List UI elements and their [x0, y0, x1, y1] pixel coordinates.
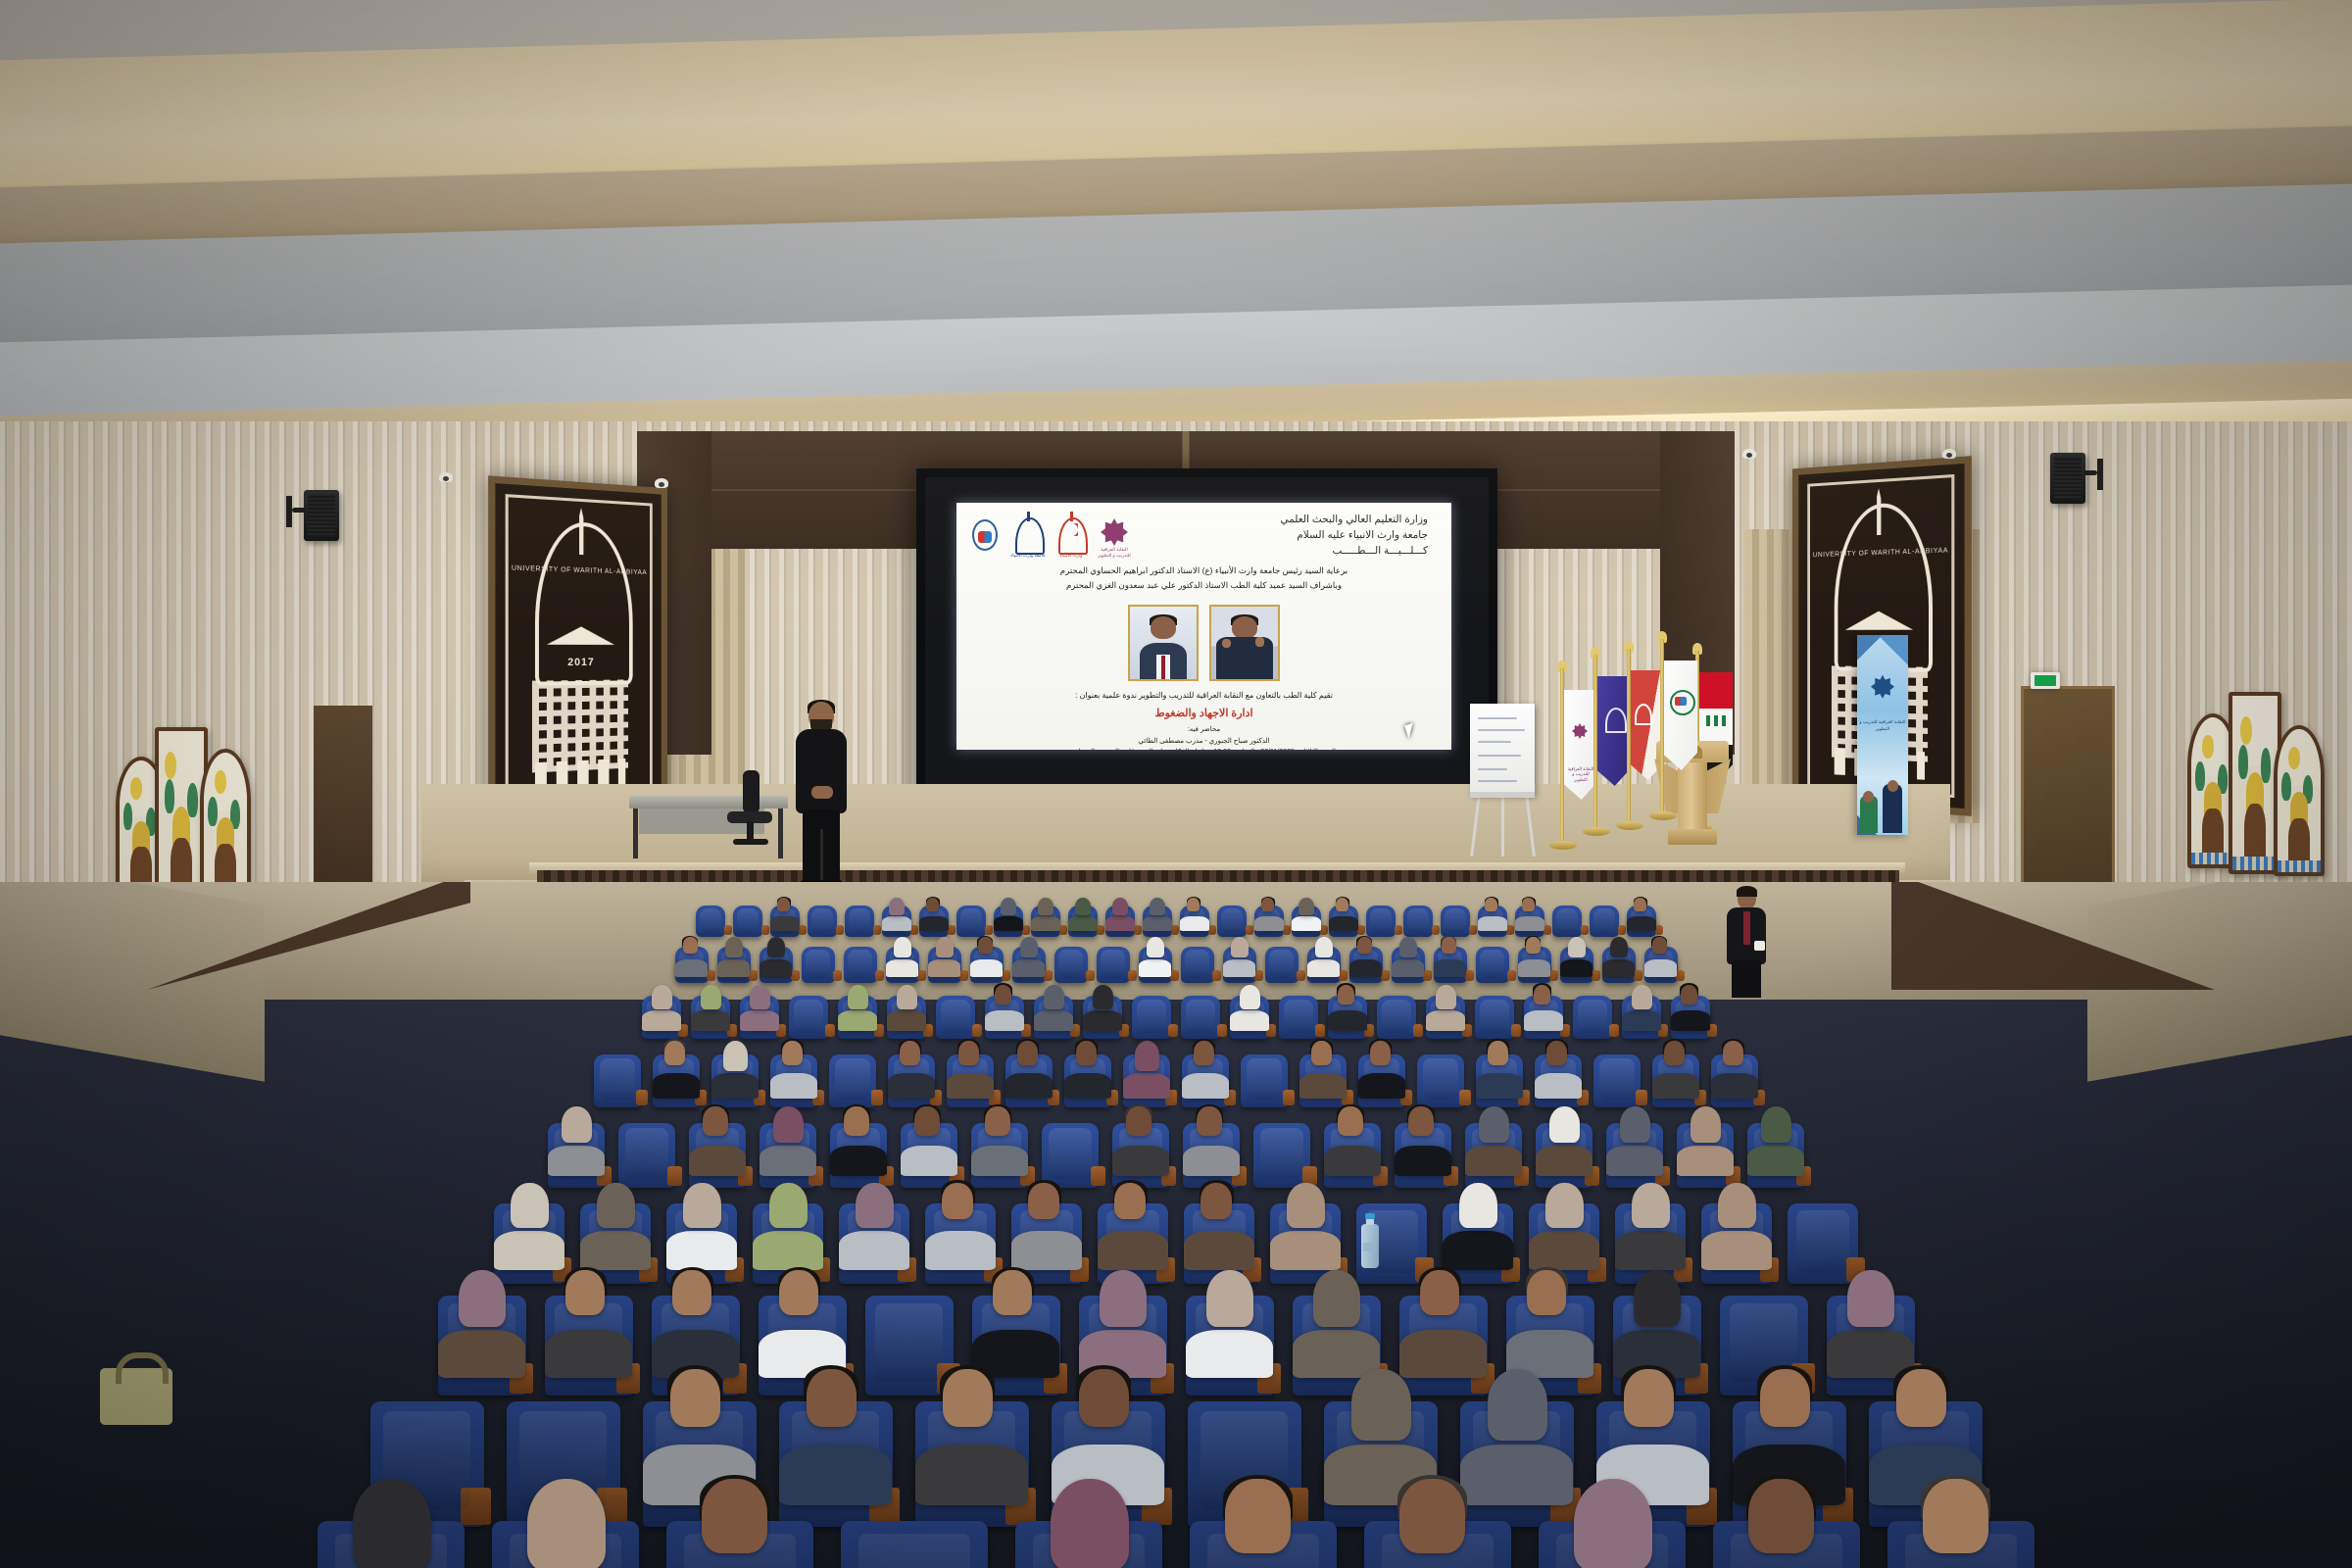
- auditorium-seat[interactable]: [1560, 947, 1593, 983]
- auditorium-seat[interactable]: [1539, 1521, 1686, 1568]
- hijab: [1847, 1270, 1894, 1327]
- auditorium-seat[interactable]: [919, 906, 949, 937]
- auditorium-seat[interactable]: [1083, 996, 1122, 1039]
- hijab: [769, 1183, 807, 1229]
- shoulders: [1329, 916, 1358, 931]
- auditorium-seat[interactable]: [1183, 1123, 1240, 1188]
- head: [958, 1041, 979, 1065]
- head: [1652, 937, 1667, 954]
- hijab: [1112, 898, 1128, 915]
- audience-member: [1479, 898, 1506, 926]
- audience-member: [655, 1041, 698, 1090]
- shoulders: [666, 1231, 737, 1269]
- auditorium-seat[interactable]: [886, 947, 919, 983]
- auditorium-seat[interactable]: [1054, 947, 1088, 983]
- seat-armrest: [1059, 925, 1067, 935]
- audience-member: [1600, 1369, 1705, 1485]
- auditorium-seat[interactable]: [841, 1521, 988, 1568]
- auditorium-seat[interactable]: [318, 1521, 465, 1568]
- audience-member: [887, 937, 917, 970]
- auditorium-seat[interactable]: [1112, 1123, 1169, 1188]
- seat-armrest: [948, 925, 955, 935]
- head: [995, 985, 1012, 1004]
- hijab: [701, 985, 721, 1009]
- auditorium-seat[interactable]: [1524, 996, 1563, 1039]
- shoulders: [1098, 1231, 1168, 1269]
- audience-member: [1519, 937, 1549, 970]
- auditorium-seat[interactable]: [839, 1203, 909, 1284]
- flag-purple-university: [1597, 676, 1631, 786]
- audience-member: [1749, 1106, 1801, 1166]
- shoulders: [717, 959, 751, 977]
- audience-member: [1184, 1041, 1227, 1090]
- shoulders: [994, 916, 1023, 931]
- auditorium-seat[interactable]: [1515, 906, 1544, 937]
- seat-armrest: [1320, 925, 1328, 935]
- head: [1485, 898, 1497, 912]
- auditorium-seat[interactable]: [691, 996, 730, 1039]
- wall-speaker-left: [304, 490, 339, 541]
- ceiling-camera-right: [1742, 449, 1756, 459]
- audience-member: [1014, 1183, 1079, 1256]
- shoulders: [1182, 1073, 1229, 1099]
- auditorium-seat[interactable]: [1590, 906, 1619, 937]
- auditorium-seat[interactable]: [1366, 906, 1396, 937]
- shoulders: [1602, 959, 1636, 977]
- audience-member: [1330, 985, 1366, 1024]
- slide-body: تقيم كلية الطب بالتعاون مع النقابة العرا…: [966, 689, 1442, 750]
- auditorium-seat[interactable]: [618, 1123, 675, 1188]
- auditorium-seat[interactable]: [1265, 947, 1298, 983]
- audience-member: [693, 985, 729, 1024]
- auditorium-seat[interactable]: [1254, 906, 1284, 937]
- head: [1681, 985, 1698, 1004]
- audience-member: [1624, 985, 1660, 1024]
- flag-syndicate-caption: النقابة العراقية للتدريب و التطوير: [1565, 766, 1596, 782]
- hijab: [1038, 898, 1053, 915]
- auditorium-seat[interactable]: [1476, 947, 1509, 983]
- auditorium-seat[interactable]: [956, 906, 986, 937]
- auditorium-seat[interactable]: [1097, 947, 1130, 983]
- auditorium-seat[interactable]: [1644, 947, 1678, 983]
- auditorium-seat[interactable]: [1478, 906, 1507, 937]
- auditorium-seat[interactable]: [888, 1054, 935, 1107]
- audience-member: [1032, 898, 1059, 926]
- shoulders: [753, 1231, 823, 1269]
- audience-member: [995, 898, 1022, 926]
- head: [943, 1369, 993, 1427]
- auditorium-seat[interactable]: [901, 1123, 957, 1188]
- head: [1923, 1479, 1987, 1553]
- shoulders: [438, 1330, 525, 1378]
- shoulders: [1143, 916, 1172, 931]
- lecturer-label: محاضر فيه:: [966, 724, 1442, 735]
- auditorium-seat[interactable]: [802, 947, 835, 983]
- audience-member: [1428, 985, 1464, 1024]
- head: [914, 1106, 940, 1136]
- auditorium-seat[interactable]: [915, 1401, 1029, 1527]
- hijab: [1549, 1106, 1580, 1144]
- shoulders: [830, 1146, 887, 1177]
- auditorium-seat[interactable]: [1395, 1123, 1451, 1188]
- shoulders: [1034, 1010, 1073, 1031]
- audience-member: [832, 1106, 884, 1166]
- auditorium-seat[interactable]: [1434, 947, 1467, 983]
- auditorium-seat[interactable]: [1417, 1054, 1464, 1107]
- shoulders: [971, 1146, 1028, 1177]
- hijab: [1459, 1183, 1496, 1229]
- auditorium-seat[interactable]: [1292, 906, 1321, 937]
- auditorium-seat[interactable]: [829, 1054, 876, 1107]
- auditorium-seat[interactable]: [1181, 996, 1220, 1039]
- auditorium-seat[interactable]: [1253, 1123, 1310, 1188]
- shoulders: [1434, 959, 1467, 977]
- auditorium-seat[interactable]: [789, 996, 828, 1039]
- audience-member: [1101, 1183, 1165, 1256]
- hijab: [562, 1106, 592, 1144]
- audience-member: [583, 1183, 648, 1256]
- auditorium-seat[interactable]: [740, 996, 779, 1039]
- auditorium-seat[interactable]: [1403, 906, 1433, 937]
- shoulders: [947, 1073, 994, 1099]
- auditorium-seat[interactable]: [1042, 1123, 1099, 1188]
- auditorium-seat[interactable]: [928, 947, 961, 983]
- auditorium-seat[interactable]: [1392, 947, 1425, 983]
- auditorium-seat[interactable]: [1602, 947, 1636, 983]
- auditorium-seat[interactable]: [1518, 947, 1551, 983]
- head: [1488, 1041, 1508, 1065]
- presentation-slide: جامعة وارث الأنبياء وارث الأنبياء النقاب…: [956, 503, 1451, 750]
- auditorium-seat[interactable]: [844, 947, 877, 983]
- head: [1522, 898, 1535, 912]
- shoulders: [1644, 959, 1678, 977]
- auditorium-seat[interactable]: [1593, 1054, 1641, 1107]
- seat-armrest: [1283, 1090, 1295, 1105]
- auditorium-seat[interactable]: [994, 906, 1023, 937]
- auditorium-seat[interactable]: [1143, 906, 1172, 937]
- head: [1624, 1369, 1674, 1427]
- auditorium-seat[interactable]: [1230, 996, 1269, 1039]
- audience-member: [1273, 1183, 1338, 1256]
- auditorium-seat[interactable]: [1476, 1054, 1523, 1107]
- auditorium-seat[interactable]: [1349, 947, 1383, 983]
- audience-member: [1308, 937, 1339, 970]
- auditorium-seat[interactable]: [1573, 996, 1612, 1039]
- shoulders: [1515, 916, 1544, 931]
- auditorium-seat[interactable]: [1005, 1054, 1053, 1107]
- auditorium-seat[interactable]: [1307, 947, 1341, 983]
- shoulders: [886, 959, 919, 977]
- hijab: [1574, 1479, 1652, 1568]
- auditorium-seat[interactable]: [1671, 996, 1710, 1039]
- audience-member: [1654, 1041, 1697, 1090]
- auditorium-seat[interactable]: [1475, 996, 1514, 1039]
- hijab: [652, 985, 672, 1009]
- shoulders: [1465, 1146, 1522, 1177]
- auditorium-seat[interactable]: [759, 947, 793, 983]
- auditorium-seat[interactable]: [492, 1521, 639, 1568]
- slide-header-line-2: جامعة وارث الانبياء عليه السلام: [1139, 527, 1428, 543]
- head: [1311, 1041, 1332, 1065]
- hijab: [459, 1270, 506, 1327]
- flag-ministry-white: [1664, 661, 1697, 770]
- auditorium-seat[interactable]: [1182, 1054, 1229, 1107]
- auditorium-seat[interactable]: [838, 996, 877, 1039]
- auditorium-seat[interactable]: [1426, 996, 1465, 1039]
- shoulders: [1677, 1146, 1734, 1177]
- audience-member: [1645, 937, 1676, 970]
- seat-row-5: [0, 1123, 2352, 1188]
- audience-member: [1370, 1479, 1505, 1568]
- auditorium-seat[interactable]: [666, 1521, 813, 1568]
- auditorium-seat[interactable]: [1190, 1521, 1337, 1568]
- audience-member: [1181, 898, 1208, 926]
- auditorium-seat[interactable]: [653, 1054, 700, 1107]
- presenter-speaker: [794, 702, 849, 888]
- auditorium-seat[interactable]: [936, 996, 975, 1039]
- auditorium-seat[interactable]: [594, 1054, 641, 1107]
- seat-armrest: [1315, 1024, 1325, 1037]
- auditorium-seat[interactable]: [1652, 1054, 1699, 1107]
- auditorium-seat[interactable]: [770, 1054, 817, 1107]
- seat-row-1: [0, 906, 2352, 937]
- head: [1527, 1270, 1566, 1316]
- auditorium-seat[interactable]: [438, 1296, 526, 1396]
- shoulders: [1123, 1073, 1170, 1099]
- seat-armrest: [1022, 925, 1030, 935]
- auditorium-seat[interactable]: [689, 1123, 746, 1188]
- shoulders: [1476, 1073, 1523, 1099]
- head: [1114, 1183, 1146, 1220]
- audience-member: [1106, 898, 1134, 926]
- shoulders: [1518, 959, 1551, 977]
- auditorium-seat[interactable]: [675, 947, 709, 983]
- auditorium-seat[interactable]: [845, 906, 874, 937]
- head: [926, 898, 939, 912]
- auditorium-seat[interactable]: [1552, 906, 1582, 937]
- auditorium-seat[interactable]: [1622, 996, 1661, 1039]
- shoulders: [1606, 1146, 1663, 1177]
- head: [703, 1106, 728, 1136]
- ceiling-camera-far-right: [1942, 449, 1956, 459]
- auditorium-seat[interactable]: [1747, 1123, 1804, 1188]
- shoulders: [1627, 916, 1656, 931]
- auditorium-seat[interactable]: [1324, 1123, 1381, 1188]
- shoulders: [1535, 1073, 1582, 1099]
- wall-speaker-right: [2050, 453, 2085, 504]
- shoulders: [919, 916, 949, 931]
- audience-member: [1467, 1106, 1519, 1166]
- auditorium-seat[interactable]: [1299, 1054, 1347, 1107]
- shoulders: [580, 1231, 651, 1269]
- auditorium-seat[interactable]: [1223, 947, 1256, 983]
- auditorium-seat[interactable]: [1377, 996, 1416, 1039]
- seminar-schedule: اليوم: الثلاثاء - 26/11/2025 - الساعة: 1…: [966, 747, 1442, 750]
- seat-armrest: [1168, 1024, 1178, 1037]
- auditorium-seat[interactable]: [1711, 1054, 1758, 1107]
- hijab: [1488, 1369, 1548, 1441]
- auditorium-seat[interactable]: [1034, 996, 1073, 1039]
- audience-member: [1013, 937, 1044, 970]
- auditorium-seat[interactable]: [759, 1123, 816, 1188]
- audience-member: [1036, 985, 1072, 1024]
- audience-member: [718, 937, 749, 970]
- auditorium-seat[interactable]: [1713, 1521, 1860, 1568]
- speaker-portrait-1: [1128, 605, 1199, 681]
- slide-photos: [956, 605, 1451, 683]
- hijab: [1479, 1106, 1509, 1144]
- auditorium-seat[interactable]: [1241, 1054, 1288, 1107]
- auditorium-seat[interactable]: [1358, 1054, 1405, 1107]
- shoulders: [1478, 916, 1507, 931]
- shoulders: [1701, 1231, 1772, 1269]
- hijab: [1761, 1106, 1791, 1144]
- decorative-arch-art-right: [2187, 692, 2334, 868]
- hijab: [1632, 1183, 1669, 1229]
- auditorium-seat[interactable]: [1279, 996, 1318, 1039]
- audience-member: [1526, 985, 1562, 1024]
- seat-armrest: [1581, 925, 1589, 935]
- exit-sign: [2031, 672, 2060, 689]
- side-door-left[interactable]: [314, 706, 372, 902]
- shoulders: [642, 1010, 681, 1031]
- hijab: [1634, 1270, 1681, 1327]
- auditorium-seat[interactable]: [971, 1123, 1028, 1188]
- auditorium-seat[interactable]: [1329, 906, 1358, 937]
- auditorium-seat[interactable]: [1181, 947, 1214, 983]
- head: [1748, 1479, 1813, 1553]
- seat-armrest: [871, 1090, 883, 1105]
- auditorium-seat[interactable]: [1186, 1296, 1274, 1396]
- auditorium-seat[interactable]: [1217, 906, 1247, 937]
- head: [1079, 1369, 1129, 1427]
- auditorium-seat[interactable]: [887, 996, 926, 1039]
- ceiling-camera-center-left: [655, 478, 668, 488]
- shoulders: [1112, 1146, 1169, 1177]
- audience-member: [760, 937, 791, 970]
- seat-armrest: [972, 1024, 982, 1037]
- auditorium-seat[interactable]: [1031, 906, 1060, 937]
- auditorium-seat[interactable]: [770, 906, 800, 937]
- hijab: [1568, 937, 1586, 957]
- shoulders: [882, 916, 911, 931]
- auditorium-seat[interactable]: [882, 906, 911, 937]
- projection-screen[interactable]: جامعة وارث الأنبياء وارث الأنبياء النقاب…: [916, 468, 1497, 809]
- auditorium-seat[interactable]: [1328, 996, 1367, 1039]
- auditorium-seat[interactable]: [1441, 906, 1470, 937]
- audience-member: [1603, 937, 1634, 970]
- auditorium-seat[interactable]: [1015, 1521, 1162, 1568]
- auditorium-seat[interactable]: [548, 1123, 605, 1188]
- audience-member: [1187, 1183, 1251, 1256]
- shoulders: [1711, 1073, 1758, 1099]
- auditorium-seat[interactable]: [1364, 1521, 1511, 1568]
- auditorium-seat[interactable]: [1105, 906, 1135, 937]
- audience-member: [672, 1479, 808, 1568]
- hijab: [1075, 898, 1091, 915]
- shoulders: [1105, 916, 1135, 931]
- decorative-arch-art-left: [116, 727, 263, 904]
- head: [664, 1041, 685, 1065]
- seat-row-4: [0, 1054, 2352, 1107]
- auditorium-seat[interactable]: [1536, 1123, 1592, 1188]
- hijab: [897, 985, 917, 1009]
- auditorium-seat[interactable]: [545, 1296, 633, 1396]
- handbag: [94, 1354, 178, 1425]
- auditorium-seat[interactable]: [717, 947, 751, 983]
- head: [900, 1041, 920, 1065]
- audience-member: [1435, 937, 1465, 970]
- seat-row-6: [0, 1203, 2352, 1284]
- audience-member: [889, 985, 925, 1024]
- audience-member: [323, 1479, 459, 1568]
- shoulders: [759, 1146, 816, 1177]
- auditorium-seat[interactable]: [1887, 1521, 2034, 1568]
- audience-member: [1085, 985, 1121, 1024]
- auditorium-seat[interactable]: [1132, 996, 1171, 1039]
- seat-armrest: [825, 1024, 835, 1037]
- audience-member: [1301, 1041, 1345, 1090]
- auditorium-seat[interactable]: [985, 996, 1024, 1039]
- seat-armrest: [636, 1090, 648, 1105]
- audience-member: [1185, 1106, 1237, 1166]
- audience-member: [1704, 1183, 1769, 1256]
- hijab: [725, 937, 743, 957]
- audience-member: [903, 1106, 955, 1166]
- auditorium-seat[interactable]: [1535, 1054, 1582, 1107]
- auditorium-seat[interactable]: [1180, 906, 1209, 937]
- seat-row-9: [0, 1521, 2352, 1568]
- head: [1338, 1106, 1363, 1136]
- hijab: [1093, 985, 1113, 1009]
- auditorium-seat[interactable]: [1606, 1123, 1663, 1188]
- hijab: [527, 1479, 606, 1568]
- hijab: [1351, 1369, 1412, 1441]
- hijab: [511, 1183, 548, 1229]
- auditorium-seat[interactable]: [1677, 1123, 1734, 1188]
- audience-member: [713, 1041, 757, 1090]
- audience-member: [1719, 1479, 1854, 1568]
- auditorium-seat[interactable]: [970, 947, 1004, 983]
- shoulders: [1012, 959, 1046, 977]
- auditorium-seat[interactable]: [642, 996, 681, 1039]
- head: [1357, 937, 1372, 954]
- audience-member: [1350, 937, 1381, 970]
- auditorium-seat[interactable]: [1123, 1054, 1170, 1107]
- auditorium-seat[interactable]: [711, 1054, 759, 1107]
- head: [1760, 1369, 1810, 1427]
- auditorium-seat[interactable]: [1627, 906, 1656, 937]
- seat-armrest: [724, 925, 732, 935]
- auditorium-seat[interactable]: [733, 906, 762, 937]
- auditorium-seat[interactable]: [830, 1123, 887, 1188]
- auditorium-seat[interactable]: [1064, 1054, 1111, 1107]
- auditorium-seat[interactable]: [1465, 1123, 1522, 1188]
- auditorium-seat[interactable]: [1068, 906, 1098, 937]
- audience-member: [1114, 1106, 1166, 1166]
- shoulders: [1524, 1010, 1563, 1031]
- auditorium-seat[interactable]: [1701, 1203, 1772, 1284]
- auditorium-seat[interactable]: [808, 906, 837, 937]
- shoulders: [1747, 1146, 1804, 1177]
- audience-member: [1396, 1106, 1448, 1166]
- auditorium-seat[interactable]: [696, 906, 725, 937]
- auditorium-seat[interactable]: [947, 1054, 994, 1107]
- shoulders: [985, 1010, 1024, 1031]
- hijab: [597, 1183, 634, 1229]
- auditorium-seat[interactable]: [1139, 947, 1172, 983]
- auditorium-seat[interactable]: [1012, 947, 1046, 983]
